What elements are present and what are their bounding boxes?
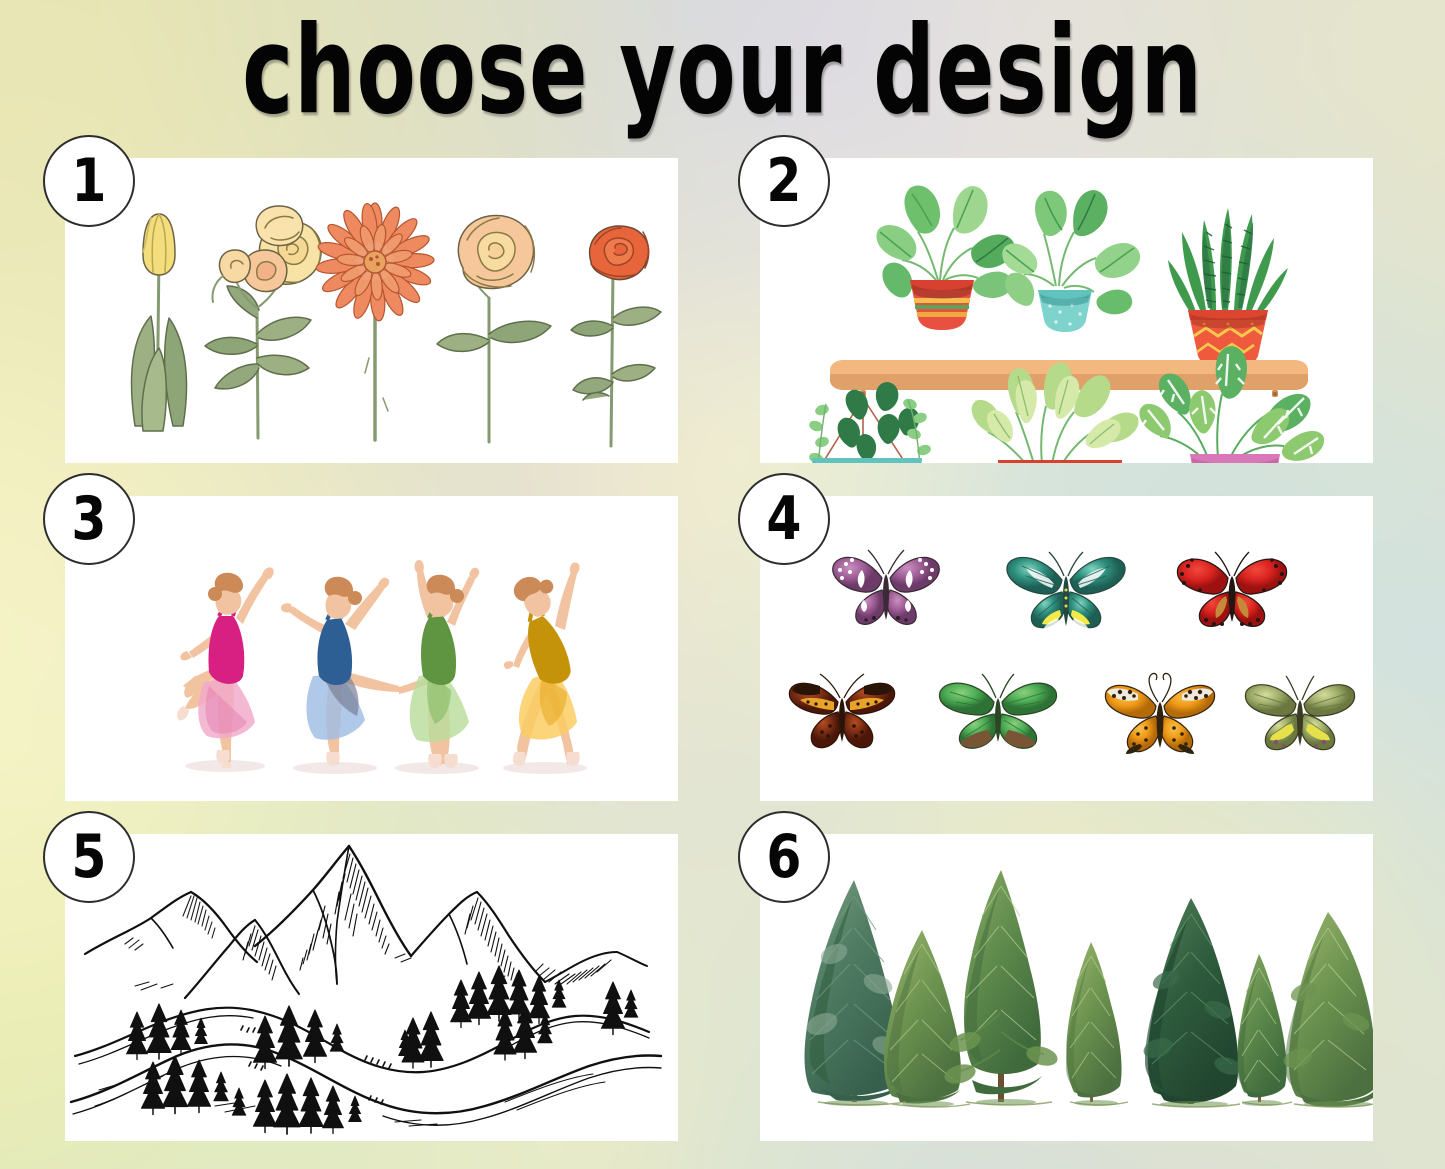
mountain-engraving-artwork <box>65 834 678 1141</box>
option-number-3: 3 <box>71 489 106 549</box>
option-number-2: 2 <box>766 151 801 211</box>
option-number-4: 4 <box>766 489 801 549</box>
option-number-1: 1 <box>71 151 106 211</box>
design-option-card-5[interactable]: 5 <box>65 834 678 1141</box>
option-number-badge-5: 5 <box>43 811 135 903</box>
floral-line-art-artwork <box>65 158 678 463</box>
design-option-card-2[interactable]: 2 <box>760 158 1373 463</box>
page-title: choose your design <box>145 3 1301 142</box>
design-option-card-6[interactable]: 6 <box>760 834 1373 1141</box>
option-number-6: 6 <box>766 827 801 887</box>
option-number-badge-1: 1 <box>43 135 135 227</box>
option-number-badge-6: 6 <box>738 811 830 903</box>
option-number-5: 5 <box>71 827 106 887</box>
option-number-badge-3: 3 <box>43 473 135 565</box>
design-options-grid: 1 <box>65 158 1373 1143</box>
pine-trees-artwork <box>760 834 1373 1141</box>
option-number-badge-2: 2 <box>738 135 830 227</box>
ballerinas-artwork <box>65 496 678 801</box>
design-option-card-4[interactable]: 4 <box>760 496 1373 801</box>
option-number-badge-4: 4 <box>738 473 830 565</box>
butterflies-artwork <box>760 496 1373 801</box>
houseplants-artwork <box>760 158 1373 463</box>
design-option-card-3[interactable]: 3 <box>65 496 678 801</box>
design-option-card-1[interactable]: 1 <box>65 158 678 463</box>
